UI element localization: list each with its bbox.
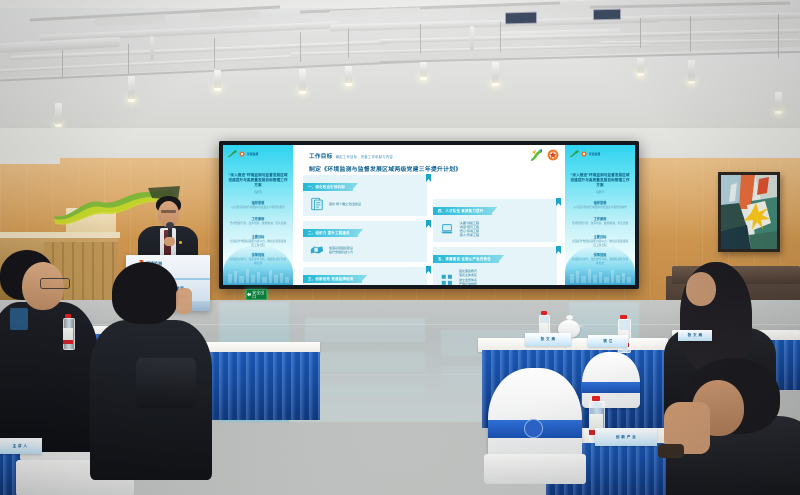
ceiling	[0, 0, 800, 138]
slide-card-header: 二、组织力 提升工程建设	[303, 229, 358, 237]
name-card: 主 讲 人	[0, 438, 42, 454]
slide-card-header: 三、创新创效 党建品牌培育	[303, 275, 362, 283]
flag-marker-icon	[556, 246, 561, 254]
side-block-text: 以习近平新时代中国特色社会主义思想为指导	[229, 206, 287, 210]
ceiling-light	[55, 103, 62, 125]
side-block: 工作原则 坚持党建引领、改革创新、统筹推进、务实高效	[229, 217, 287, 226]
chair[interactable]	[488, 368, 582, 486]
slide-logos	[530, 149, 559, 161]
slide-card-header: 一、强化政治引领机制	[303, 183, 353, 191]
ceiling-light	[492, 62, 499, 84]
ceiling-light	[214, 70, 221, 89]
city-skyline-graphic	[568, 267, 632, 283]
side-block-heading: 指导思想	[229, 201, 287, 205]
slide-card-body: 强化“两个确立”政治建设	[303, 193, 427, 211]
ceiling-light	[637, 58, 644, 74]
side-block: 指导思想 以习近平新时代中国特色社会主义思想为指导	[571, 201, 629, 210]
slide-card-line: 严明纪律规矩	[459, 282, 477, 285]
slide-side-panel-right: 环境监测 “深入推进”环境监测与监督发展区域 党建提升与高质量发展目标管理工作方…	[565, 145, 635, 285]
slide-title: 制定《环境监测与监督发展区域两级党建三年提升计划》	[309, 164, 461, 173]
side-block-heading: 工作原则	[571, 217, 629, 221]
side-panel-title: “深入推进”环境监测与监督发展区域 党建提升与高质量发展目标管理工作方案	[227, 173, 289, 188]
slide-header-main: 工作目标	[309, 152, 333, 160]
attendee-head	[686, 272, 716, 306]
slide-card-lines: 加强基层组织建设 提升党组织战斗力	[329, 246, 353, 254]
attendee-right-2	[672, 358, 800, 495]
slide-card-line: “薪火”传承工程	[459, 233, 479, 237]
left-arrow-icon	[247, 292, 251, 297]
side-panel-logo: 环境监测	[228, 150, 258, 157]
green-ribbon-logo	[530, 149, 543, 161]
teapot-spout	[576, 325, 584, 330]
slide-card: 五、清廉建设 全面从严治党责任	[433, 247, 557, 285]
side-panel-title: “深入推进”环境监测与监督发展区域 党建提升与高质量发展目标管理工作方案	[569, 173, 631, 188]
slide-card-lines: “头雁”领航工程 “青苗”培育工程 “匠心”铸魂工程 “薪火”传承工程	[459, 221, 479, 237]
side-block-text: 坚持党建引领、改革创新、统筹推进、务实高效	[229, 222, 287, 226]
slide-card-header: 五、清廉建设 全面从严治党责任	[433, 255, 499, 263]
side-logo-text: 环境监测	[247, 152, 258, 156]
side-block-heading: 工作原则	[229, 217, 287, 221]
slide-card: 二、组织力 提升工程建设 加强基层组织建设	[303, 221, 427, 262]
slide-column-left: 一、强化政治引领机制	[303, 175, 427, 281]
name-card: 创 新 产 业	[595, 428, 657, 446]
slide-card-body: 强化廉政教育 落实主体责任 健全监督体系 严明纪律规矩 营造清廉氛围	[433, 265, 557, 285]
side-block: 工作原则 坚持党建引领、改革创新、统筹推进、务实高效	[571, 217, 629, 226]
slide-card-columns: 一、强化政治引领机制	[303, 175, 557, 281]
exit-sign: 安全出口	[246, 289, 267, 300]
side-panel-logo: 环境监测	[570, 150, 600, 157]
teapot-lid	[566, 315, 573, 320]
city-skyline-graphic	[226, 267, 290, 283]
flag-marker-icon	[556, 198, 561, 206]
slide-header: 工作目标 确定工作目标，完善工作机制与内容	[309, 152, 393, 160]
ceiling-light	[775, 92, 782, 112]
orange-emblem-logo	[547, 149, 559, 161]
attendee-front-left-1	[0, 250, 102, 450]
conference-room-scene: 环境监测 “深入推进”环境监测与监督发展区域 党建提升与高质量发展目标管理工作方…	[0, 0, 800, 495]
ceiling-light	[299, 69, 306, 92]
side-logo-text: 环境监测	[589, 152, 600, 156]
slide-card: 一、强化政治引领机制	[303, 175, 427, 216]
attendee-hair	[112, 262, 178, 324]
flag-marker-icon	[426, 174, 431, 182]
side-block-heading: 指导思想	[571, 201, 629, 205]
water-bottle	[62, 314, 74, 348]
name-card: 张 文 海	[678, 330, 712, 341]
slide-column-right: 四、人才队伍 素质能力提升	[433, 175, 557, 281]
attendee-collar	[10, 308, 28, 330]
document-icon	[310, 197, 324, 211]
flag-marker-icon	[426, 220, 431, 228]
slide-side-panel-left: 环境监测 “深入推进”环境监测与监督发展区域 党建提升与高质量发展目标管理工作方…	[223, 145, 293, 285]
ceiling-light	[420, 62, 427, 78]
slide-card-header: 四、人才队伍 素质能力提升	[433, 207, 492, 215]
side-block-text: 坚持党建引领、改革创新、统筹推进、务实高效	[571, 222, 629, 226]
wristwatch	[658, 444, 684, 458]
slide-header-sub: 确定工作目标，完善工作机制与内容	[336, 154, 393, 159]
grid-icon	[440, 273, 454, 285]
chair-sash-ring	[524, 419, 543, 438]
attendee-ear-side	[176, 288, 192, 314]
slide-center-panel: 工作目标 确定工作目标，完善工作机制与内容 制定《环境监测与监督发展区域两级党建…	[293, 145, 565, 285]
side-block-heading: 主要目标	[571, 235, 629, 239]
slide-card-body: “头雁”领航工程 “青苗”培育工程 “匠心”铸魂工程 “薪火”传承工程	[433, 217, 557, 237]
name-card: 张 文 海	[525, 333, 571, 346]
slide-surface: 环境监测 “深入推进”环境监测与监督发展区域 党建提升与高质量发展目标管理工作方…	[223, 145, 635, 285]
reception-desk-top	[0, 232, 120, 238]
eyeglasses	[40, 278, 70, 289]
slide-card-lines: 强化“两个确立”政治建设	[329, 202, 361, 206]
flag-marker-icon	[426, 266, 431, 274]
led-presentation-screen[interactable]: 环境监测 “深入推进”环境监测与监督发展区域 党建提升与高质量发展目标管理工作方…	[219, 141, 639, 289]
side-block-text: 以习近平新时代中国特色社会主义思想为指导	[571, 206, 629, 210]
name-card-text: 张 文 海	[541, 337, 556, 342]
ceiling-vent	[505, 12, 537, 25]
ceiling-light	[345, 66, 352, 84]
name-card-text: 钱 江	[603, 339, 612, 344]
slide-card-line: 强化“两个确立”政治建设	[329, 202, 361, 206]
side-block: 指导思想 以习近平新时代中国特色社会主义思想为指导	[229, 201, 287, 210]
attendee-arm	[136, 358, 196, 408]
handshake-icon	[310, 243, 324, 257]
slide-card-lines: 强化廉政教育 落实主体责任 健全监督体系 严明纪律规矩 营造清廉氛围	[459, 269, 477, 285]
slide-card-body: 加强基层组织建设 提升党组织战斗力	[303, 239, 427, 257]
side-block-heading: 主要目标	[229, 235, 287, 239]
ceiling-light	[688, 60, 695, 82]
laptop-icon	[440, 222, 454, 236]
wall-art-frame	[718, 172, 780, 252]
slide-card: 四、人才队伍 素质能力提升	[433, 199, 557, 242]
name-card: 钱 江	[588, 335, 628, 347]
side-panel-subtitle: （试行）	[569, 190, 631, 194]
abstract-painting	[721, 175, 777, 249]
ceiling-light	[128, 76, 135, 100]
side-panel-subtitle: （试行）	[227, 190, 289, 194]
name-card-text: 创 新 产 业	[616, 435, 636, 440]
slide-card-line: 提升党组织战斗力	[329, 250, 353, 254]
name-card-text: 张 文 海	[688, 333, 703, 338]
slide-card: 三、创新创效 党建品牌培育	[303, 267, 427, 285]
exit-sign-text: 安全出口	[252, 291, 266, 299]
name-card-text: 主 讲 人	[13, 444, 28, 449]
slide-card-line: 落实主体责任	[459, 273, 477, 277]
attendee-front-left-2	[90, 262, 216, 477]
ceiling-vent	[593, 9, 621, 20]
